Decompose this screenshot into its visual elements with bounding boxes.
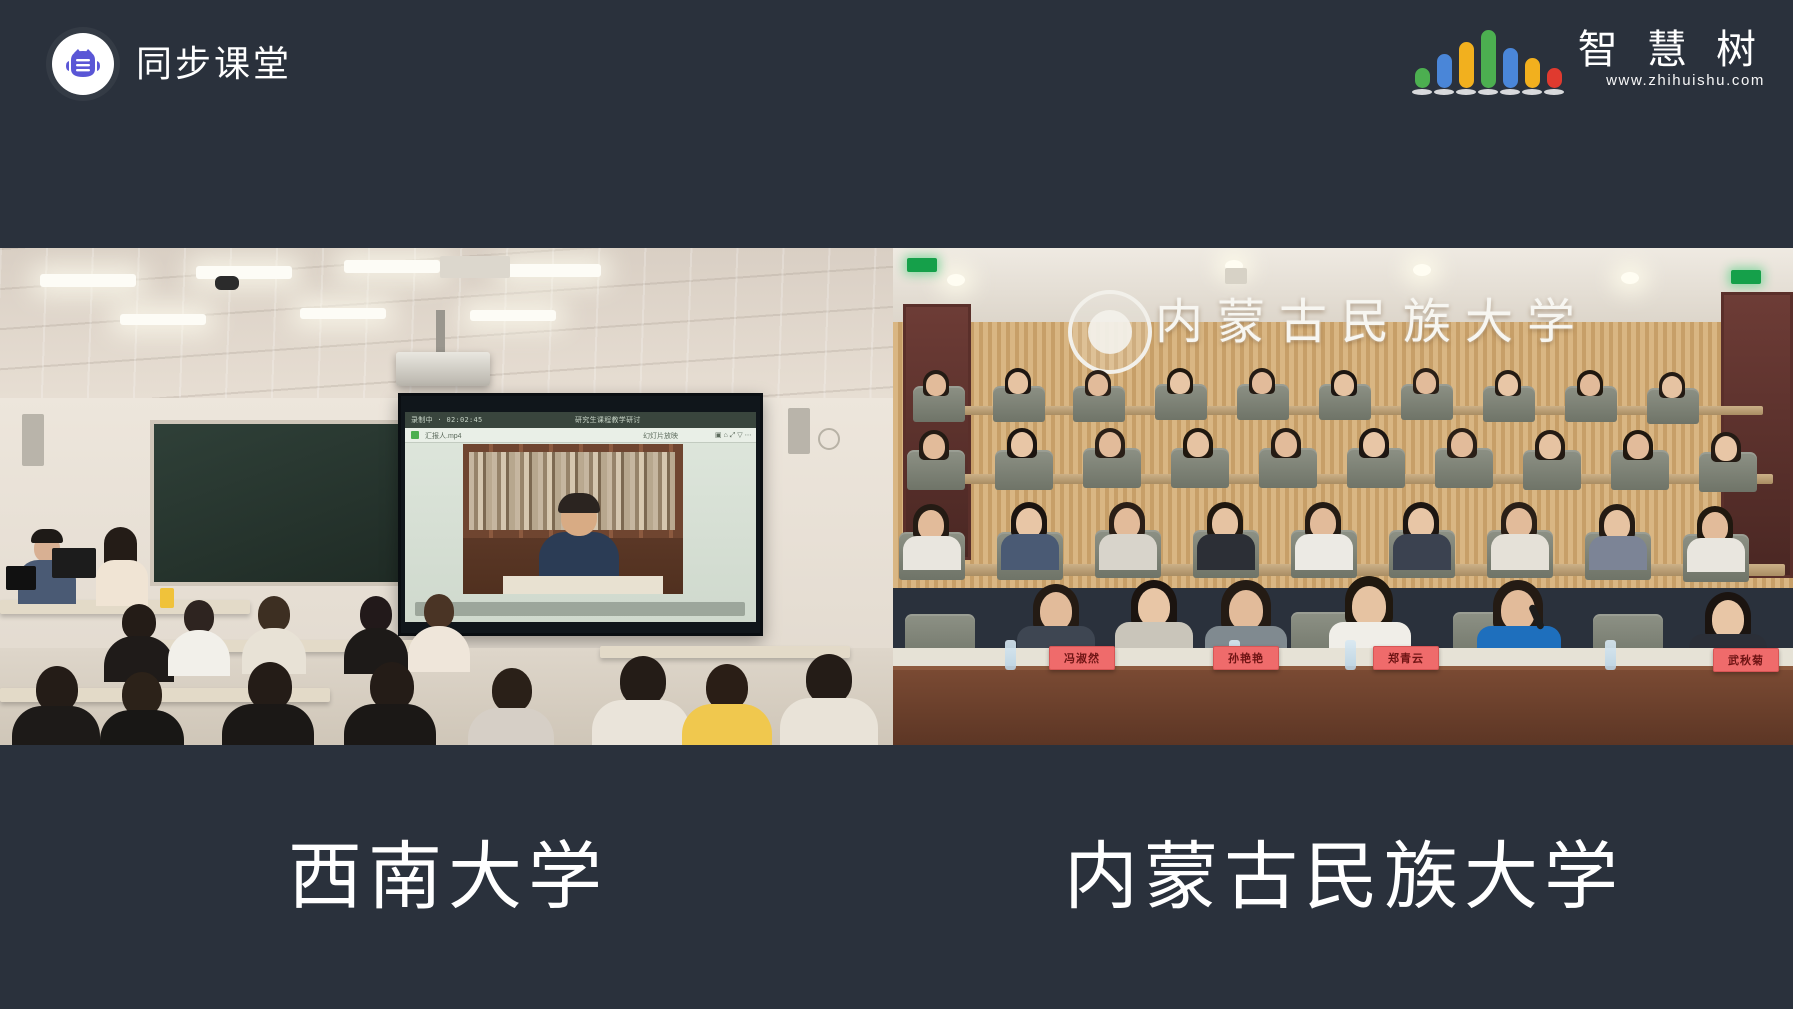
ceiling-downlight [947,274,965,286]
scene-element [1295,534,1353,570]
screen-toolbar: 汇报人.mp4 幻灯片放映 ▣ ⌂ ⤢ ▽ ⋯ [405,428,756,443]
student-head [184,600,214,634]
ceiling-light [344,260,440,273]
projector-mount-arm [436,310,445,354]
student-head [248,662,292,710]
scene-element [1539,434,1561,459]
presenter-body [96,560,148,606]
scene-element [1627,434,1649,459]
caption-cell-left: 西南大学 [0,745,896,1009]
partner-name: 智 慧 树 [1578,30,1765,70]
student-head [258,596,290,632]
ceiling-light [196,266,292,279]
teacher-hair [31,529,63,543]
projection-screen-frame: 录制中 · 02:02:45 研究生课程教学研讨 汇报人.mp4 幻灯片放映 ▣… [398,393,763,636]
scene-element [1040,592,1072,630]
student-head [370,662,414,710]
exit-sign [907,258,937,272]
student-head [620,656,666,706]
partner-brand-block: 智 慧 树 www.zhihuishu.com [1415,30,1765,88]
water-bottle [160,588,174,608]
university-emblem-inner [1088,310,1132,354]
scene-element [1229,590,1263,630]
monitor [52,548,96,578]
scene-element [923,434,945,459]
brand-block: 同步课堂 [52,33,292,95]
scene-element [1088,374,1108,396]
scene-element [1662,376,1682,398]
scene-element [1011,432,1033,457]
wall-speaker [788,408,810,454]
name-tag: 孙艳艳 [1213,646,1279,670]
scene-element [1001,534,1059,570]
dual-video-stage: 录制中 · 02:02:45 研究生课程教学研讨 汇报人.mp4 幻灯片放映 ▣… [0,248,1793,745]
scene-element [1008,372,1028,394]
ceiling-light [40,274,136,287]
scene-element [1491,534,1549,570]
scene-element [1589,536,1647,570]
student-shoulder [780,698,878,745]
ceiling-camera-icon [215,276,239,290]
wall-speaker [22,414,44,466]
caption-cell-right: 内蒙古民族大学 [896,745,1792,1009]
partner-text-block: 智 慧 树 www.zhihuishu.com [1578,30,1765,88]
screen-slideshow-label: 幻灯片放映 [643,431,678,441]
zhihuishu-bars-logo-icon [1415,30,1562,88]
water-bottle [1345,640,1356,670]
scene-element [1170,372,1190,394]
scene-element [1252,372,1272,394]
scene-element [1498,374,1518,396]
scene-element [1451,432,1473,457]
student-head [360,596,392,632]
name-tag: 郑青云 [1373,646,1439,670]
page-header: 同步课堂 智 慧 树 www.zhihuishu.com [0,0,1793,248]
scene-element [1687,538,1745,572]
water-bottle [1005,640,1016,670]
student-shoulder [344,704,436,745]
student-shoulder [468,708,554,745]
exit-sign [1731,270,1761,284]
caption-row: 西南大学 内蒙古民族大学 [0,745,1793,1009]
scene-element [903,536,961,570]
projection-screen: 录制中 · 02:02:45 研究生课程教学研讨 汇报人.mp4 幻灯片放映 ▣… [405,412,756,622]
student-shoulder [682,704,772,745]
student-shoulder [100,710,184,745]
student-head [492,668,532,712]
scene-element [1187,432,1209,457]
scene-element [1715,436,1737,461]
screen-status-dot-icon [411,431,419,439]
university-emblem [1068,290,1152,374]
screen-recording-bar: 录制中 · 02:02:45 研究生课程教学研讨 [405,412,756,428]
screen-session-title: 研究生课程教学研讨 [575,415,641,425]
laptop [6,566,36,590]
remote-speaker-desk [503,576,663,594]
scene-element [1363,432,1385,457]
remote-speaker-hair [558,493,600,513]
panel-table [893,666,1793,745]
caption-right-university: 内蒙古民族大学 [1064,840,1624,914]
classroom-video-right[interactable]: 内蒙古民族大学 [893,248,1793,745]
brand-title: 同步课堂 [136,46,292,82]
student-shoulder [592,700,690,745]
name-tag: 武秋菊 [1713,648,1779,672]
scene-element [1275,432,1297,457]
screen-file-label: 汇报人.mp4 [425,431,462,441]
scene-element [1352,586,1386,626]
ceiling-light [470,310,556,321]
partner-url: www.zhihuishu.com [1606,73,1765,88]
scene-element [1416,372,1436,394]
caption-left-university: 西南大学 [288,840,608,914]
ceiling-projector [396,352,490,386]
ceiling-downlight [1413,264,1431,276]
ceiling-light [120,314,206,325]
wall-university-name: 内蒙古民族大学 [1155,282,1589,352]
classroom-video-left[interactable]: 录制中 · 02:02:45 研究生课程教学研讨 汇报人.mp4 幻灯片放映 ▣… [0,248,893,745]
water-bottle [1605,640,1616,670]
scene-element [1099,432,1121,457]
student-shoulder [222,704,314,745]
scene-element [1197,534,1255,570]
student-shoulder [12,706,100,745]
ceiling-downlight [1621,272,1639,284]
ceiling-light [505,264,601,277]
scene-element [926,374,946,396]
student-head [122,604,156,640]
ceiling-light [300,308,386,319]
scene-element [1580,374,1600,396]
wall-clock-icon [818,428,840,450]
ceiling-vent [440,256,510,278]
name-tag: 冯淑然 [1049,646,1115,670]
scene-element [1334,374,1354,396]
scene-element [1712,600,1744,638]
scene-element [1138,588,1170,626]
screen-toolbar-icons: ▣ ⌂ ⤢ ▽ ⋯ [715,431,752,440]
remote-speaker-video [463,444,683,594]
wall-camera-icon [1225,268,1247,284]
screen-controls-bar[interactable] [415,602,745,616]
student-head [806,654,852,704]
owl-mask-logo-icon [52,33,114,95]
student-head [424,594,454,628]
screen-recording-label: 录制中 · 02:02:45 [411,415,483,425]
scene-element [1099,534,1157,570]
blackboard [150,420,413,586]
scene-element [1393,534,1451,570]
